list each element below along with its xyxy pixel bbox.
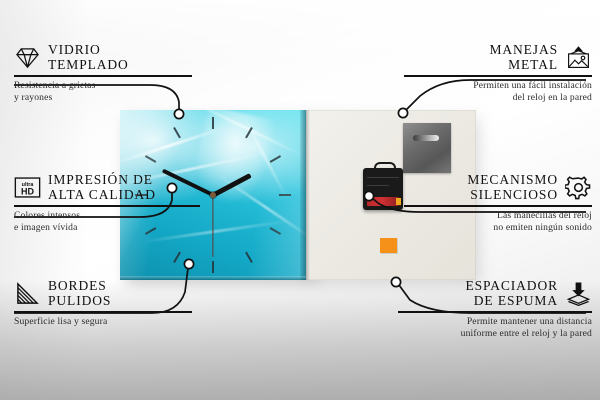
feature-title: VIDRIO TEMPLADO (48, 42, 129, 72)
beveled-edge-icon (14, 281, 41, 306)
arrow-onto-foam-pad-icon (565, 281, 592, 306)
mechanism-hook (374, 162, 396, 173)
foam-spacer (380, 238, 397, 253)
mechanism-detail (367, 185, 389, 186)
mechanism-detail (367, 177, 399, 178)
battery (367, 197, 399, 206)
feature-bordes-pulidos[interactable]: BORDES PULIDOS Superficie lisa y segura (14, 278, 192, 328)
feature-vidrio-templado[interactable]: VIDRIO TEMPLADO Resistencia a grietas y … (14, 42, 192, 105)
hanging-picture-frame-icon (565, 45, 592, 70)
hanger-slot (413, 135, 439, 141)
ultra-hd-icon: ultra HD (14, 175, 41, 200)
diamond-icon (14, 45, 41, 70)
gear-icon (565, 175, 592, 200)
feature-espaciador-espuma[interactable]: ESPACIADOR DE ESPUMA Permite mantener un… (398, 278, 592, 341)
feature-description: Superficie lisa y segura (14, 316, 192, 328)
svg-text:HD: HD (21, 186, 34, 196)
divider (14, 311, 192, 313)
divider (398, 311, 592, 313)
feature-title: BORDES PULIDOS (48, 278, 111, 308)
divider (404, 75, 592, 77)
infographic-canvas: VIDRIO TEMPLADO Resistencia a grietas y … (0, 0, 600, 400)
metal-hanger-plate (403, 123, 451, 173)
feature-impresion-alta-calidad[interactable]: ultra HD IMPRESIÓN DE ALTA CALIDAD Color… (14, 172, 200, 235)
clock-mechanism (363, 168, 403, 210)
divider (14, 75, 192, 77)
divider (404, 205, 592, 207)
feature-title: ESPACIADOR DE ESPUMA (465, 278, 558, 308)
feature-description: Colores intensos e imagen vívida (14, 210, 200, 235)
feature-mecanismo-silencioso[interactable]: MECANISMO SILENCIOSO Las manecillas del … (404, 172, 592, 235)
feature-description: Las manecillas del reloj no emiten ningú… (404, 210, 592, 235)
divider (14, 205, 200, 207)
feature-manejas-metal[interactable]: MANEJAS METAL Permiten una fácil instala… (404, 42, 592, 105)
feature-description: Permiten una fácil instalación del reloj… (404, 80, 592, 105)
feature-title: IMPRESIÓN DE ALTA CALIDAD (48, 172, 156, 202)
feature-description: Resistencia a grietas y rayones (14, 80, 192, 105)
battery-terminal (396, 198, 401, 205)
panel-left-edge (306, 110, 310, 280)
feature-title: MECANISMO SILENCIOSO (467, 172, 558, 202)
feature-description: Permite mantener una distancia uniforme … (398, 316, 592, 341)
feature-title: MANEJAS METAL (489, 42, 558, 72)
